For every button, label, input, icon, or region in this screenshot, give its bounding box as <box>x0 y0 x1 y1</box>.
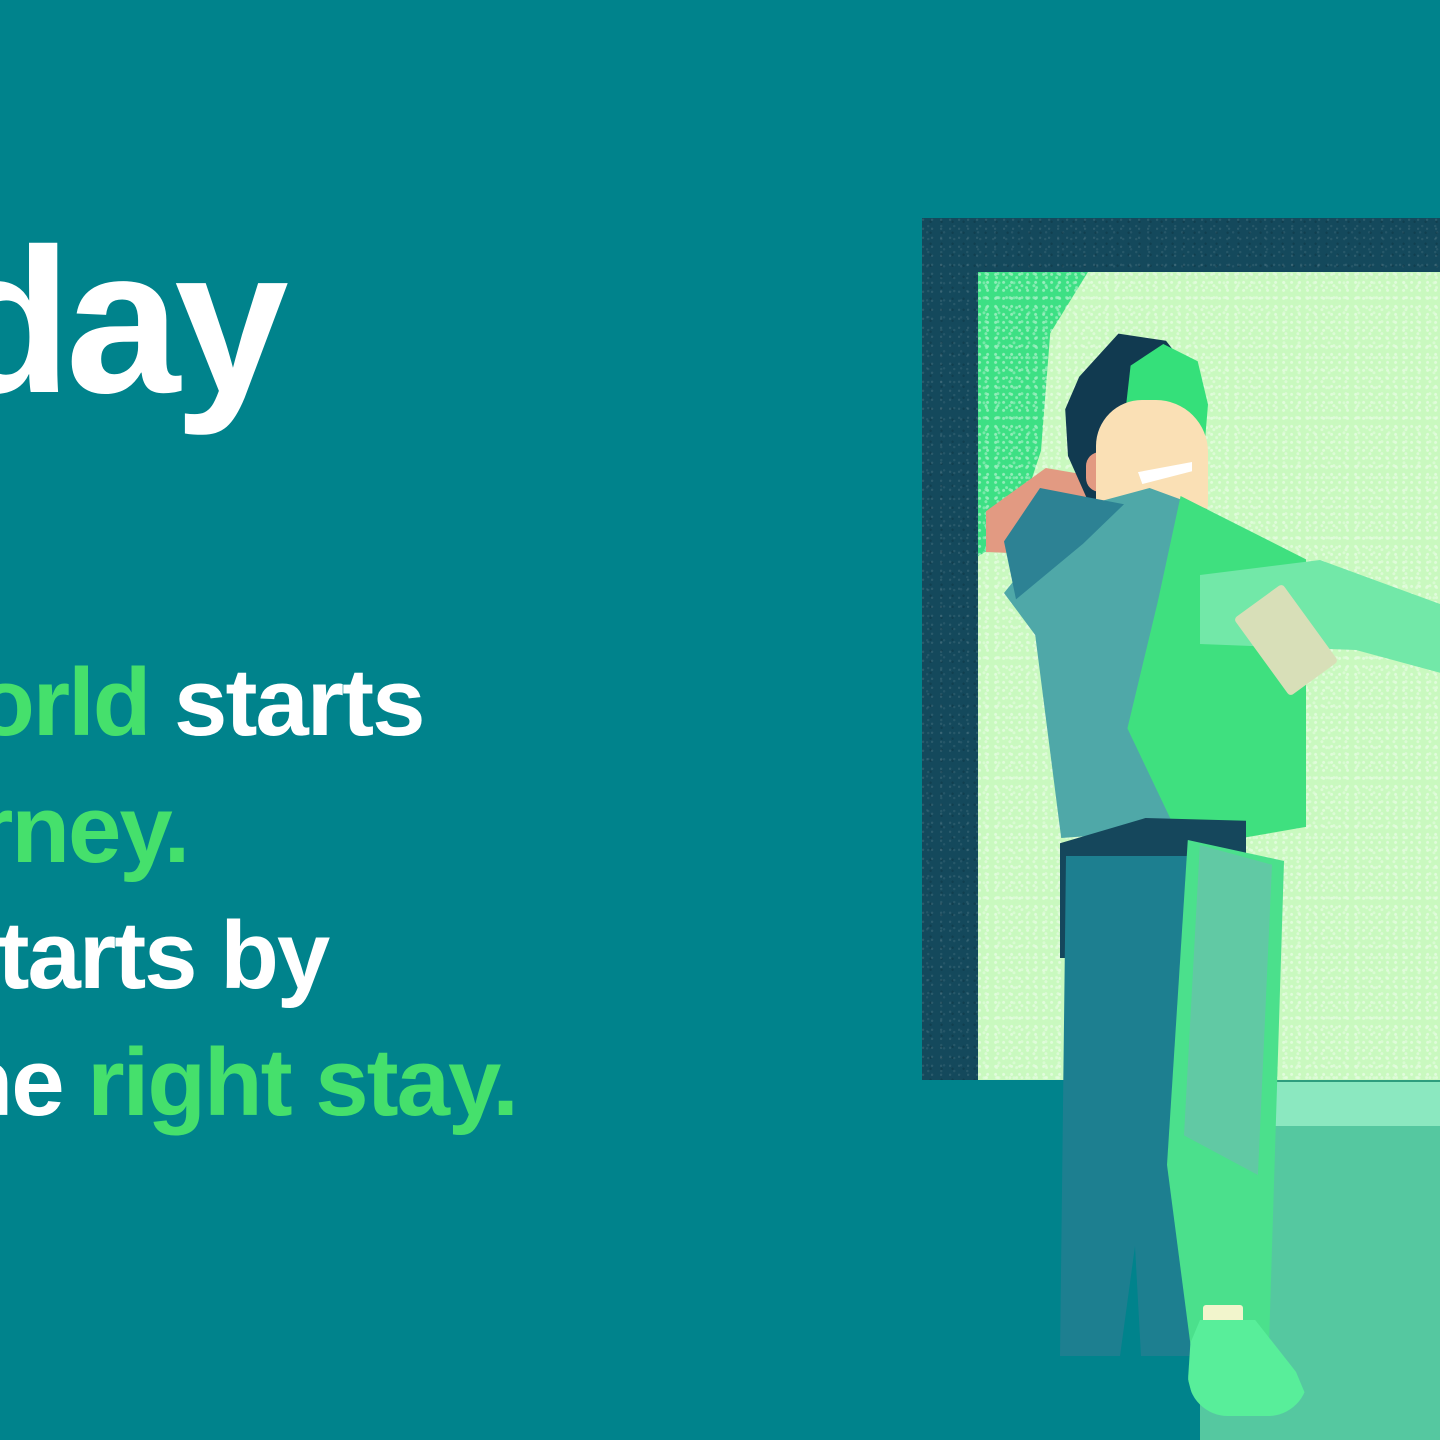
tagline-line-3-white: ney starts by <box>0 902 328 1009</box>
brand-block: tiday <box>0 218 592 518</box>
tagline: ter world starts a journey. ney starts b… <box>0 640 882 1147</box>
tagline-line-1: ter world starts <box>0 640 882 767</box>
illustration <box>900 0 1440 1440</box>
trousers-shadow <box>1184 845 1272 1175</box>
shoe <box>1188 1320 1308 1416</box>
tagline-line-1-white: starts <box>149 649 423 756</box>
tagline-line-3: ney starts by <box>0 893 882 1020</box>
tagline-line-1-green: ter world <box>0 649 149 756</box>
tagline-line-2-green: a journey. <box>0 776 188 883</box>
tagline-line-4: ing the right stay. <box>0 1020 882 1147</box>
hero-banner: tiday ter world starts a journey. ney st… <box>0 0 1440 1440</box>
brand-wordmark: tiday <box>0 218 283 424</box>
tagline-line-4-green: right stay. <box>87 1029 517 1136</box>
tagline-line-2: a journey. <box>0 767 882 894</box>
tagline-line-4-white: ing the <box>0 1029 87 1136</box>
person-figure <box>900 0 1440 1440</box>
